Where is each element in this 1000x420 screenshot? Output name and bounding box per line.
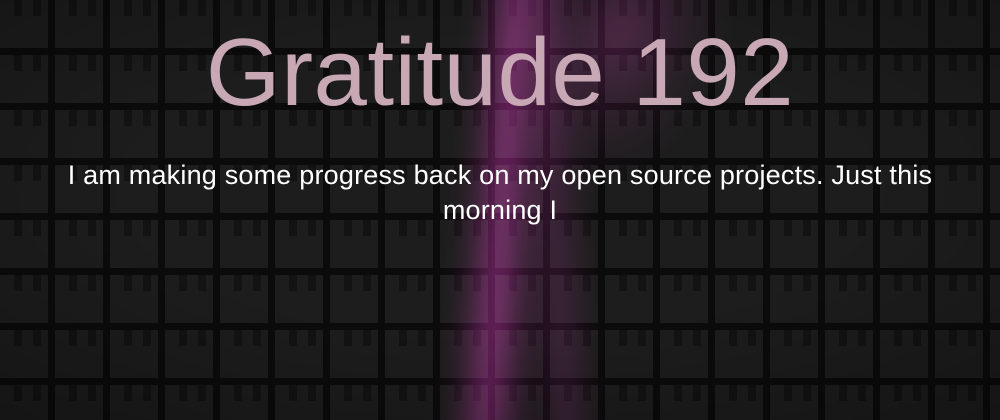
social-card: Gratitude 192 I am making some progress … [0, 0, 1000, 420]
card-title: Gratitude 192 [206, 22, 794, 124]
card-content: Gratitude 192 I am making some progress … [0, 0, 1000, 420]
card-body-text: I am making some progress back on my ope… [60, 158, 940, 229]
